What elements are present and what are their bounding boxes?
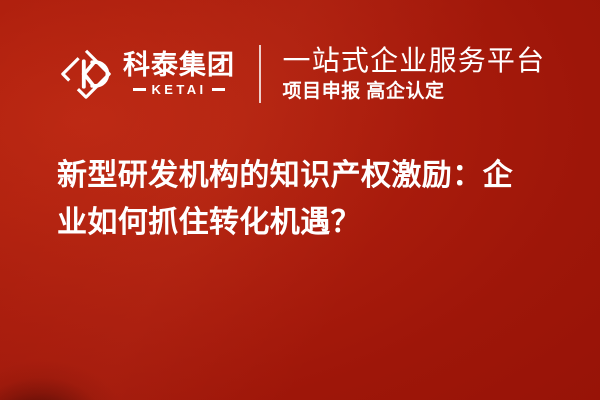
- promo-banner: 科泰集团 KETAI 一站式企业服务平台 项目申报 高企认定 新型研发机构的知识…: [0, 0, 600, 400]
- tagline-main: 一站式企业服务平台: [283, 45, 546, 76]
- dash-right-icon: [212, 88, 225, 91]
- brand-name-en: KETAI: [151, 82, 206, 97]
- page-title: 新型研发机构的知识产权激励：企 业如何抓住转化机遇？: [57, 152, 569, 246]
- dash-left-icon: [133, 88, 146, 91]
- ketai-diamond-kd-logo-icon: [58, 46, 114, 102]
- vertical-divider-icon: [259, 45, 261, 103]
- tagline-sub: 项目申报 高企认定: [283, 81, 546, 103]
- headline-line-1: 新型研发机构的知识产权激励：企: [57, 152, 569, 199]
- brand-name-en-row: KETAI: [123, 82, 235, 97]
- wordmark: 科泰集团 KETAI: [123, 51, 235, 97]
- headline-line-2: 业如何抓住转化机遇？: [57, 199, 569, 246]
- logo-lockup[interactable]: 科泰集团 KETAI: [58, 38, 235, 110]
- tagline-block: 一站式企业服务平台 项目申报 高企认定: [283, 45, 546, 102]
- brand-header: 科泰集团 KETAI 一站式企业服务平台 项目申报 高企认定: [58, 38, 545, 110]
- brand-name-cn: 科泰集团: [123, 51, 235, 79]
